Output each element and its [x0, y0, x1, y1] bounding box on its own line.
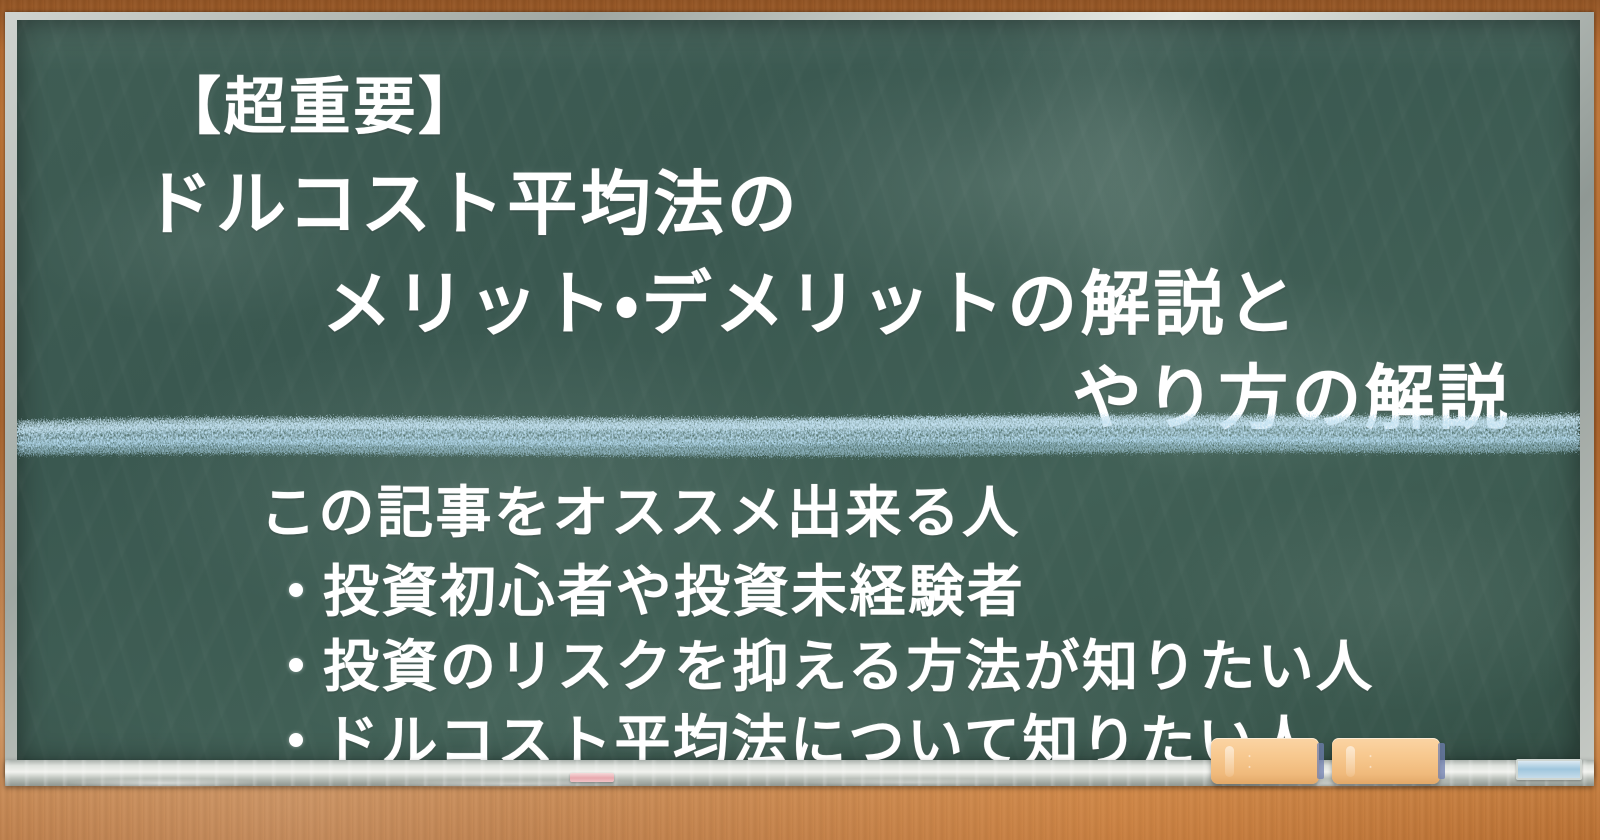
- bullet-dot-icon: [289, 658, 303, 672]
- eraser-highlight-strip: [1225, 746, 1234, 777]
- section-subtitle: この記事をオススメ出来る人: [260, 468, 1021, 549]
- chalkboard-title-card: 【超重要】 ドルコスト平均法の メリット・デメリットの解説と やり方の解説: [0, 0, 1600, 840]
- chalk-blue[interactable]: [1516, 759, 1582, 780]
- eraser-left[interactable]: [1211, 738, 1319, 784]
- headline-line-1: ドルコスト平均法の: [143, 148, 800, 249]
- eraser-dots: [1247, 753, 1252, 770]
- headline-line-3: やり方の解説: [1072, 342, 1511, 443]
- bullet-dot-icon: [289, 583, 303, 597]
- eraser-dots: [1368, 753, 1373, 770]
- list-item-label: 投資初心者や投資未経験者: [323, 547, 1025, 628]
- headline-line-2: メリット・デメリットの解説と: [322, 248, 1300, 349]
- headline-kicker: 【超重要】: [159, 56, 483, 146]
- eraser-felt: [1317, 743, 1324, 779]
- chalk-pink[interactable]: [570, 773, 614, 782]
- eraser-right[interactable]: [1332, 738, 1440, 784]
- chalkboard-surface: 【超重要】 ドルコスト平均法の メリット・デメリットの解説と やり方の解説: [17, 20, 1580, 764]
- bullet-dot-icon: [289, 733, 303, 747]
- list-item-label: ドルコスト平均法について知りたい人: [323, 697, 1315, 764]
- recommended-audience-list: 投資初心者や投資未経験者 投資のリスクを抑える方法が知りたい人 ドルコスト平均法…: [289, 547, 1375, 764]
- list-item-label: 投資のリスクを抑える方法が知りたい人: [323, 622, 1375, 703]
- eraser-felt: [1438, 743, 1445, 779]
- list-item: 投資のリスクを抑える方法が知りたい人: [289, 622, 1375, 697]
- eraser-highlight-strip: [1346, 746, 1355, 777]
- list-item: 投資初心者や投資未経験者: [289, 547, 1375, 622]
